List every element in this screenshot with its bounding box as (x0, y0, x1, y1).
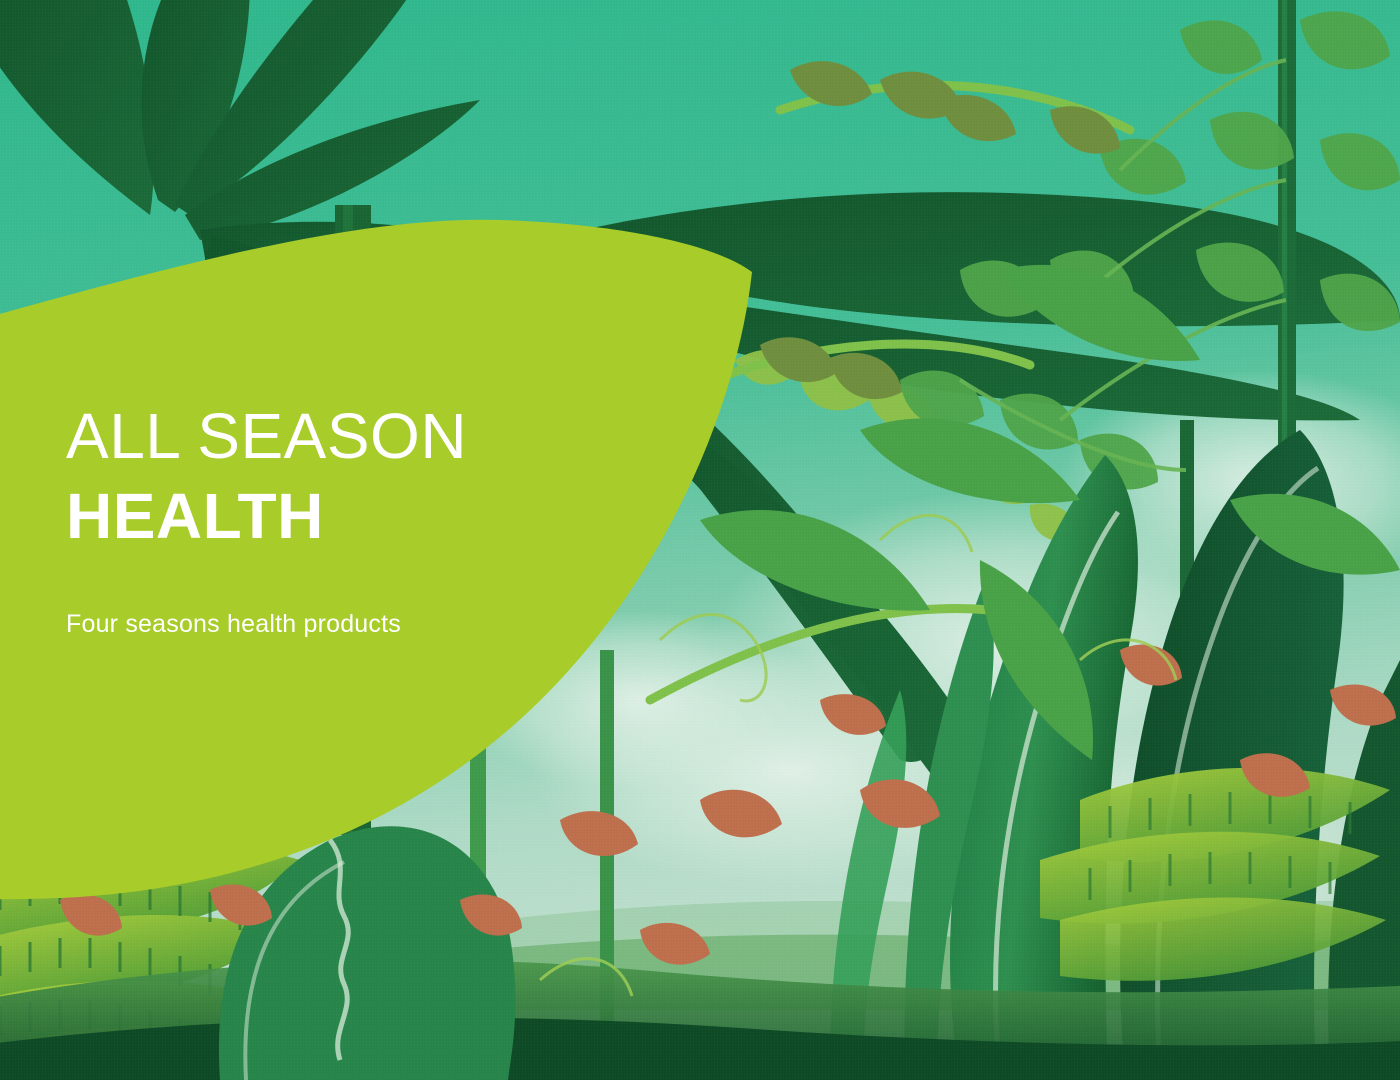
headline-block: ALL SEASON HEALTH Four seasons health pr… (66, 404, 626, 639)
title-line-1: ALL SEASON (66, 404, 626, 468)
subtitle: Four seasons health products (66, 610, 626, 639)
title-line-2: HEALTH (66, 484, 626, 548)
poster-canvas: ALL SEASON HEALTH Four seasons health pr… (0, 0, 1400, 1080)
